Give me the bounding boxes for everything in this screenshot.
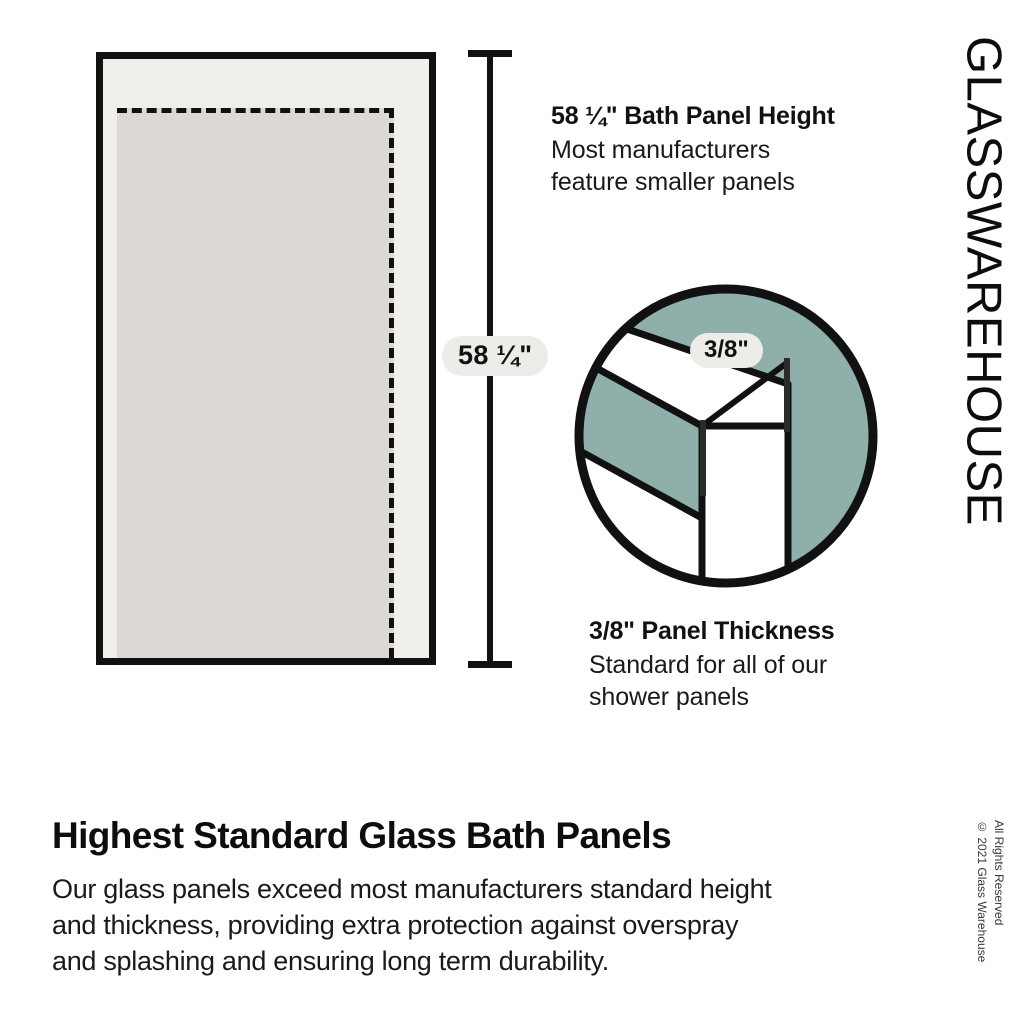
footer-paragraph-line1: Our glass panels exceed most manufacture… bbox=[52, 874, 772, 904]
dimension-cap-top-icon bbox=[468, 50, 512, 57]
thickness-callout-body-line2: shower panels bbox=[589, 681, 949, 713]
footer-copy-block: Highest Standard Glass Bath Panels Our g… bbox=[52, 816, 902, 979]
panel-inner-dashed-outline bbox=[117, 108, 394, 658]
thickness-value-label: 3/8" bbox=[690, 333, 763, 368]
brand-wordmark-text: GLASSWAREHOUSE bbox=[959, 36, 1008, 526]
height-callout-block: 58 ¼" Bath Panel Height Most manufacture… bbox=[551, 100, 951, 198]
thickness-detail-diagram: 3/8" bbox=[570, 280, 882, 592]
height-callout-body-line1: Most manufacturers bbox=[551, 134, 951, 166]
footer-paragraph: Our glass panels exceed most manufacture… bbox=[52, 871, 902, 980]
copyright-line-2: All Rights Reserved bbox=[991, 820, 1006, 962]
footer-paragraph-line3: and splashing and ensuring long term dur… bbox=[52, 946, 609, 976]
dimension-cap-bottom-icon bbox=[468, 661, 512, 668]
thickness-detail-svg bbox=[570, 280, 882, 592]
thickness-callout-block: 3/8" Panel Thickness Standard for all of… bbox=[589, 615, 949, 713]
height-callout-body-line2: feature smaller panels bbox=[551, 166, 951, 198]
glass-edge-face bbox=[702, 426, 788, 592]
copyright-notice: © 2021 Glass Warehouse All Rights Reserv… bbox=[974, 820, 1006, 962]
height-callout-title: 58 ¼" Bath Panel Height bbox=[551, 100, 951, 132]
footer-paragraph-line2: and thickness, providing extra protectio… bbox=[52, 910, 738, 940]
brand-wordmark: GLASSWAREHOUSE bbox=[948, 36, 1018, 596]
copyright-line-1: © 2021 Glass Warehouse bbox=[974, 820, 989, 962]
thickness-callout-body-line1: Standard for all of our bbox=[589, 649, 949, 681]
glass-panel-illustration bbox=[96, 52, 436, 665]
footer-heading: Highest Standard Glass Bath Panels bbox=[52, 816, 902, 857]
height-dimension-label: 58 ¼" bbox=[442, 336, 548, 376]
thickness-callout-title: 3/8" Panel Thickness bbox=[589, 615, 949, 647]
